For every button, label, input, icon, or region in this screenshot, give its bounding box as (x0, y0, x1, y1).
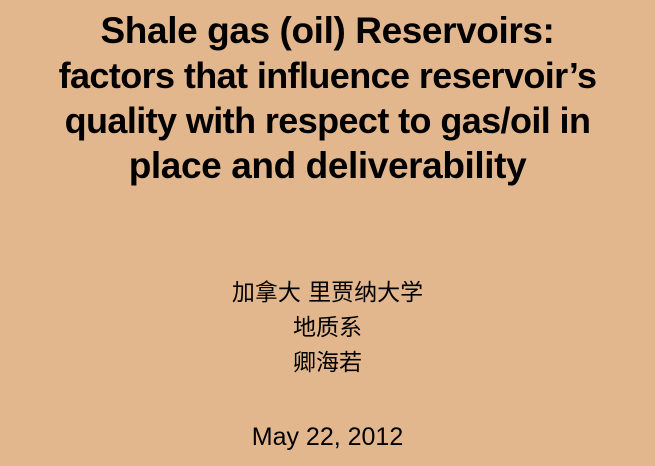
slide-date: May 22, 2012 (0, 422, 655, 452)
title-line-2: factors that influence reservoir’s (0, 53, 655, 98)
slide-affiliation: 加拿大 里贾纳大学 地质系 卿海若 (0, 276, 655, 381)
title-line-1: Shale gas (oil) Reservoirs: (0, 8, 655, 53)
presentation-slide: Shale gas (oil) Reservoirs: factors that… (0, 0, 655, 466)
date-text: May 22, 2012 (0, 422, 655, 452)
affiliation-department: 地质系 (0, 311, 655, 346)
title-line-3: quality with respect to gas/oil in (0, 98, 655, 143)
title-line-4: place and deliverability (0, 143, 655, 188)
affiliation-university: 加拿大 里贾纳大学 (0, 276, 655, 311)
slide-title: Shale gas (oil) Reservoirs: factors that… (0, 8, 655, 188)
affiliation-author: 卿海若 (0, 346, 655, 381)
